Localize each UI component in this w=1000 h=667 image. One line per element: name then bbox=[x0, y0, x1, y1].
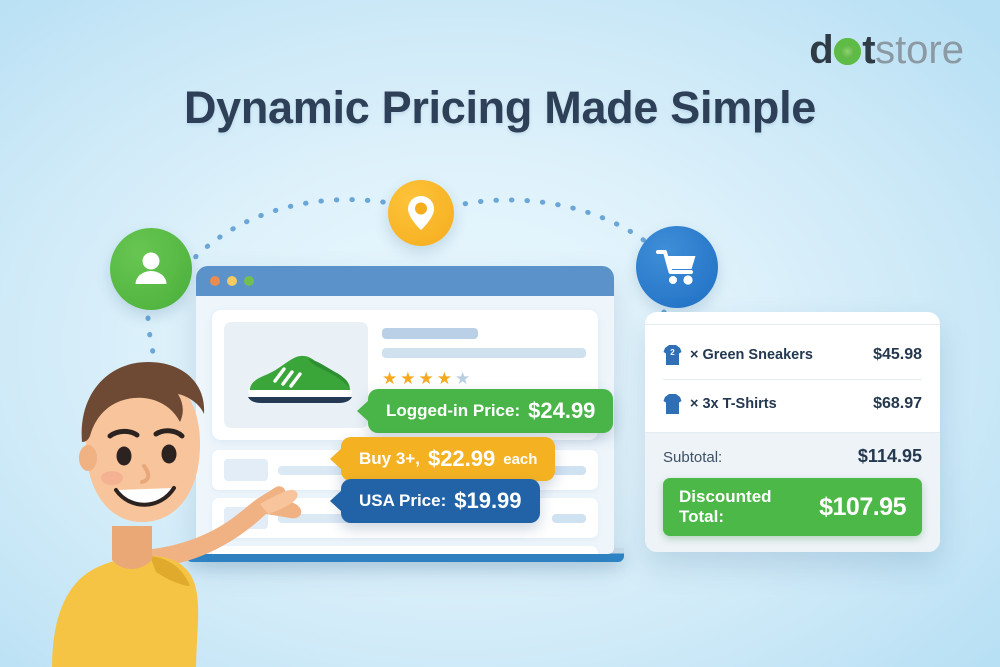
cart-item-name: × Green Sneakers bbox=[690, 347, 813, 363]
logo-text-store: store bbox=[875, 28, 964, 73]
badge-label: USA Price: bbox=[359, 491, 446, 511]
badge-label: Buy 3+, bbox=[359, 449, 420, 469]
tshirt-icon: 2 bbox=[663, 344, 682, 366]
logo-text-d: d bbox=[809, 28, 833, 73]
subtotal-label: Subtotal: bbox=[663, 449, 722, 466]
cart-item-amount: $68.97 bbox=[873, 395, 922, 413]
window-close-dot[interactable] bbox=[210, 276, 220, 286]
shopping-cart-node[interactable] bbox=[636, 226, 718, 308]
window-maximize-dot[interactable] bbox=[244, 276, 254, 286]
ear-shape bbox=[79, 445, 97, 471]
page-title: Dynamic Pricing Made Simple bbox=[0, 82, 1000, 134]
discounted-total-label: Discounted Total: bbox=[679, 487, 819, 527]
audience-user-node[interactable] bbox=[110, 228, 192, 310]
cart-item-name: × 3x T-Shirts bbox=[690, 396, 777, 412]
product-rating: ★ ★ ★ ★ ★ bbox=[382, 370, 586, 387]
badge-suffix: each bbox=[503, 451, 537, 468]
list-item-price-placeholder bbox=[552, 466, 586, 475]
star-icon-empty: ★ bbox=[455, 370, 470, 387]
product-title-placeholder bbox=[382, 328, 478, 339]
browser-titlebar bbox=[196, 266, 614, 296]
cheek-blush bbox=[101, 471, 123, 485]
shopping-cart-icon bbox=[654, 245, 700, 289]
logo-dot-icon bbox=[834, 38, 861, 65]
user-icon bbox=[129, 247, 173, 291]
star-icon: ★ bbox=[382, 370, 397, 387]
cart-item-amount: $45.98 bbox=[873, 346, 922, 364]
star-icon: ★ bbox=[400, 370, 415, 387]
subtotal-row: Subtotal: $114.95 bbox=[663, 446, 922, 467]
location-pin-icon bbox=[404, 194, 438, 232]
window-minimize-dot[interactable] bbox=[227, 276, 237, 286]
neck-shape bbox=[112, 526, 152, 569]
geo-location-node[interactable] bbox=[388, 180, 454, 246]
cart-summary-panel: 2 × Green Sneakers $45.98 × 3x T-Shirts … bbox=[645, 312, 940, 552]
list-item-price-placeholder bbox=[552, 514, 586, 523]
cart-row[interactable]: 2 × Green Sneakers $45.98 bbox=[663, 331, 922, 379]
eye-left bbox=[117, 447, 132, 466]
badge-geo-price[interactable]: USA Price: $19.99 bbox=[341, 479, 540, 523]
cart-item-list: 2 × Green Sneakers $45.98 × 3x T-Shirts … bbox=[645, 324, 940, 432]
star-icon: ★ bbox=[419, 370, 434, 387]
tshirt-icon bbox=[663, 393, 682, 415]
badge-value: $24.99 bbox=[528, 398, 595, 424]
logo-text-t: t bbox=[862, 28, 875, 73]
discounted-total-bar: Discounted Total: $107.95 bbox=[663, 478, 922, 536]
dotstore-logo[interactable]: d t store bbox=[809, 28, 964, 73]
svg-text:2: 2 bbox=[670, 348, 675, 357]
cart-totals: Subtotal: $114.95 Discounted Total: $107… bbox=[645, 432, 940, 552]
eye-right bbox=[162, 445, 177, 464]
star-icon: ★ bbox=[437, 370, 452, 387]
discounted-total-amount: $107.95 bbox=[819, 493, 906, 522]
badge-logged-in-price[interactable]: Logged-in Price: $24.99 bbox=[368, 389, 613, 433]
badge-value: $19.99 bbox=[454, 488, 521, 514]
hero-illustration: d t store Dynamic Pricing Made Simple bbox=[0, 0, 1000, 667]
badge-label: Logged-in Price: bbox=[386, 401, 520, 421]
badge-value: $22.99 bbox=[428, 446, 495, 472]
subtotal-amount: $114.95 bbox=[858, 446, 922, 467]
product-desc-placeholder bbox=[382, 348, 586, 358]
badge-bulk-price[interactable]: Buy 3+, $22.99 each bbox=[341, 437, 555, 481]
person-illustration bbox=[38, 318, 368, 667]
cart-row[interactable]: × 3x T-Shirts $68.97 bbox=[663, 379, 922, 428]
